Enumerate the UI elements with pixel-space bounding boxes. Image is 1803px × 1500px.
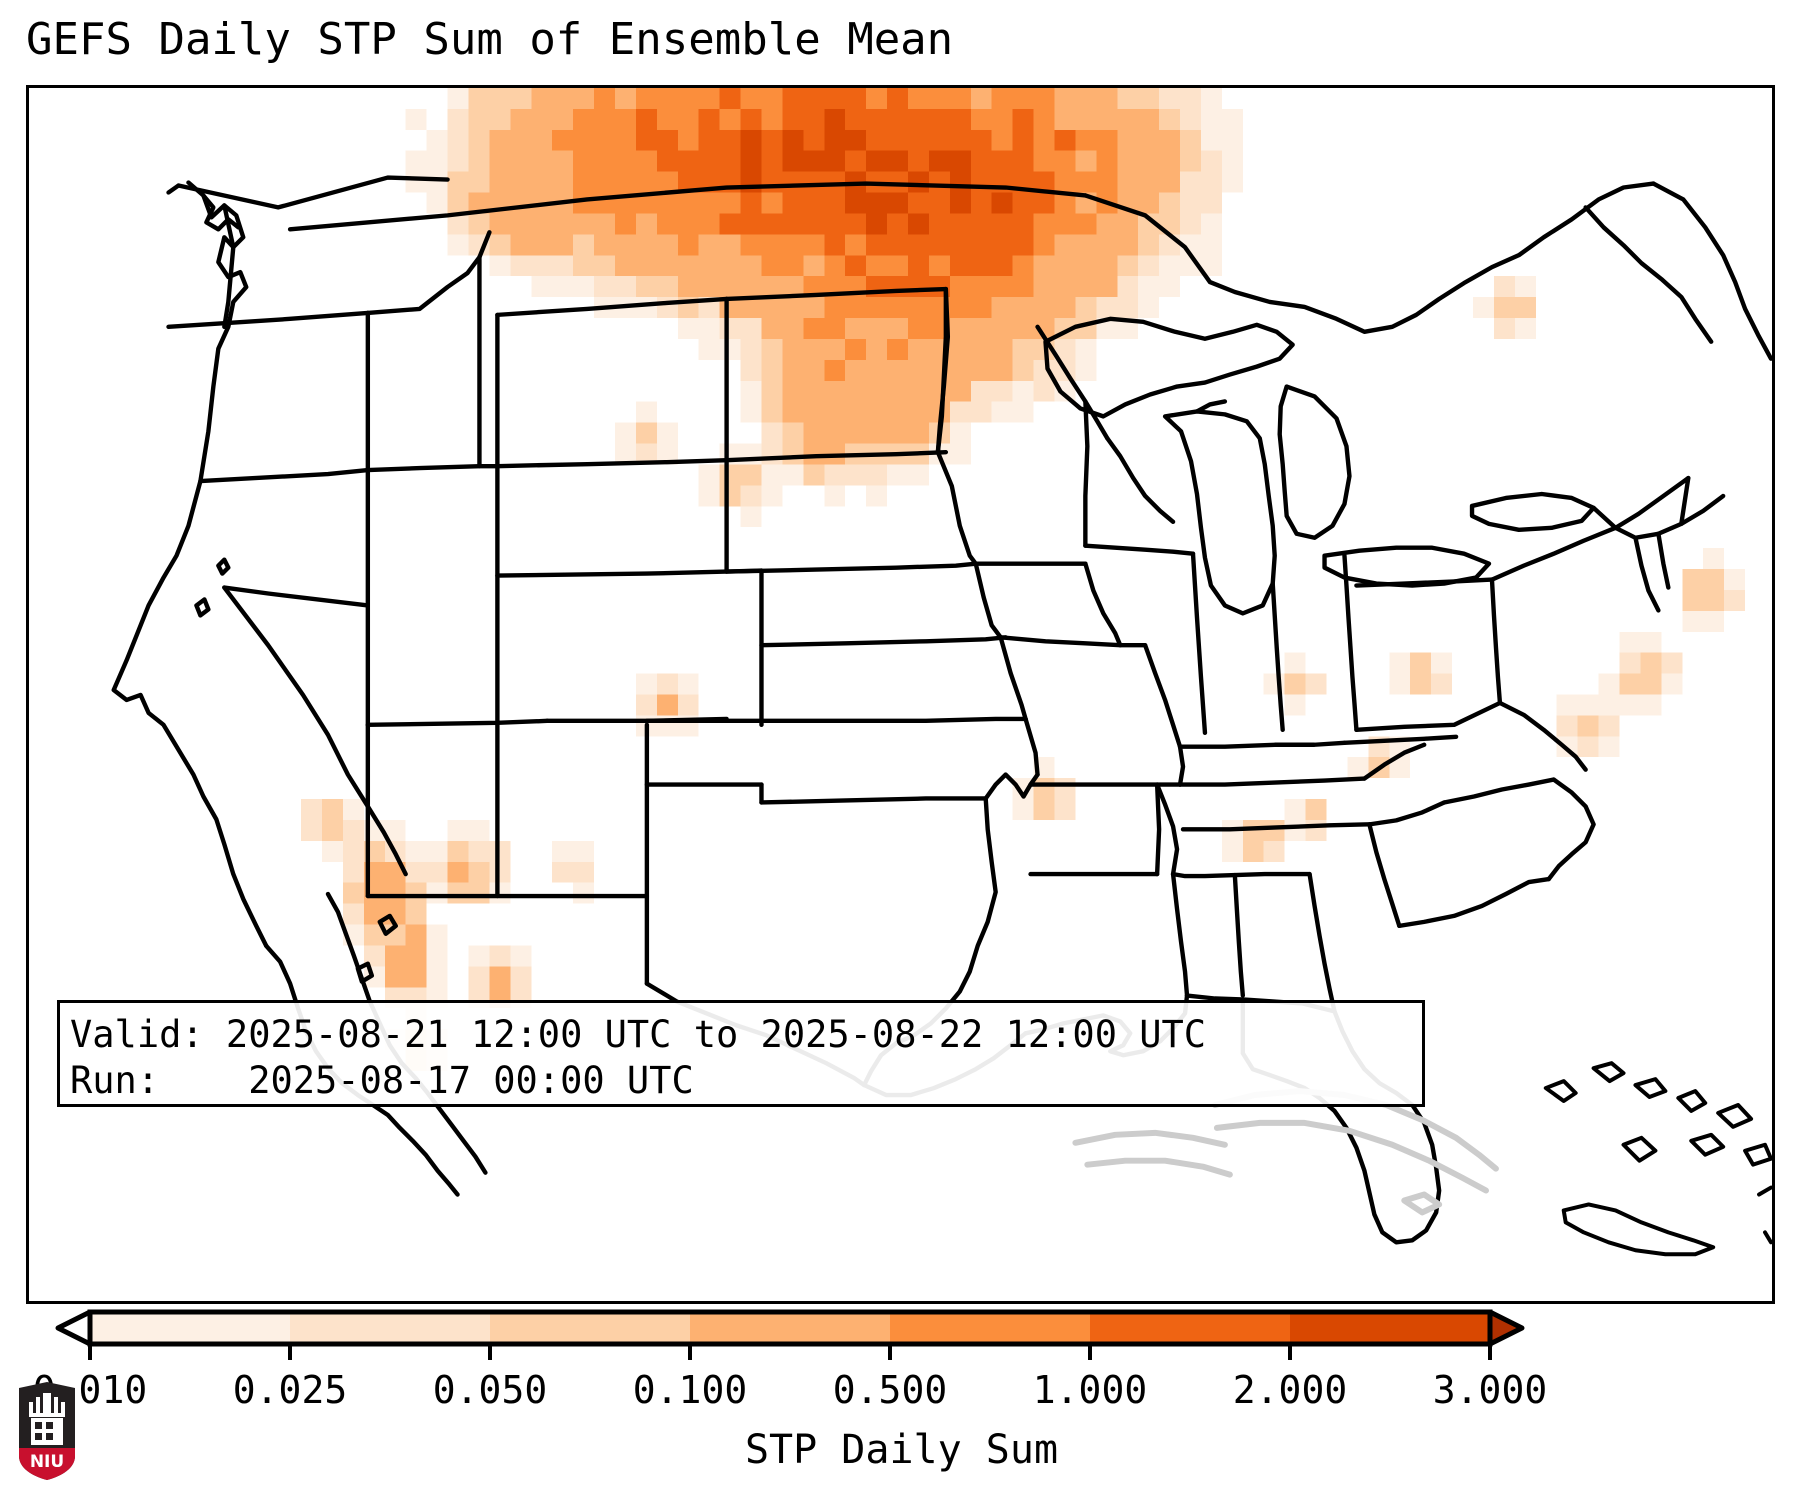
colorbar-tick-label-3: 0.100 (633, 1368, 747, 1412)
colorbar-over-arrow (1490, 1312, 1522, 1344)
colorbar-tick-label-7: 3.000 (1433, 1368, 1547, 1412)
niu-logo: NIU (16, 1382, 78, 1480)
colorbar-under-arrow (58, 1312, 90, 1344)
colorbar-svg (0, 1308, 1803, 1364)
colorbar-band-5 (1090, 1312, 1291, 1344)
colorbar-axis-label: STP Daily Sum (0, 1426, 1803, 1474)
map-frame (26, 85, 1775, 1304)
colorbar-band-2 (490, 1312, 691, 1344)
colorbar-tick-label-5: 1.000 (1033, 1368, 1147, 1412)
colorbar-tick-label-2: 0.050 (433, 1368, 547, 1412)
colorbar-bands (90, 1312, 1491, 1344)
colorbar-band-1 (290, 1312, 491, 1344)
niu-banner-text: NIU (30, 1452, 64, 1472)
colorbar-tick-labels: 0.0100.0250.0500.1000.5001.0002.0003.000 (0, 1368, 1803, 1416)
map-geography-layer (29, 88, 1772, 1301)
colorbar-band-3 (690, 1312, 891, 1344)
valid-period-text: Valid: 2025-08-21 12:00 UTC to 2025-08-2… (70, 1012, 1422, 1058)
colorbar-tick-label-1: 0.025 (233, 1368, 347, 1412)
run-time-text: Run: 2025-08-17 00:00 UTC (70, 1058, 1422, 1104)
colorbar (0, 1308, 1803, 1364)
colorbar-band-0 (90, 1312, 291, 1344)
colorbar-tick-label-4: 0.500 (833, 1368, 947, 1412)
colorbar-band-4 (890, 1312, 1091, 1344)
colorbar-band-6 (1290, 1312, 1491, 1344)
page-title: GEFS Daily STP Sum of Ensemble Mean (26, 14, 953, 66)
colorbar-tick-label-6: 2.000 (1233, 1368, 1347, 1412)
forecast-info-box: Valid: 2025-08-21 12:00 UTC to 2025-08-2… (57, 1000, 1425, 1107)
